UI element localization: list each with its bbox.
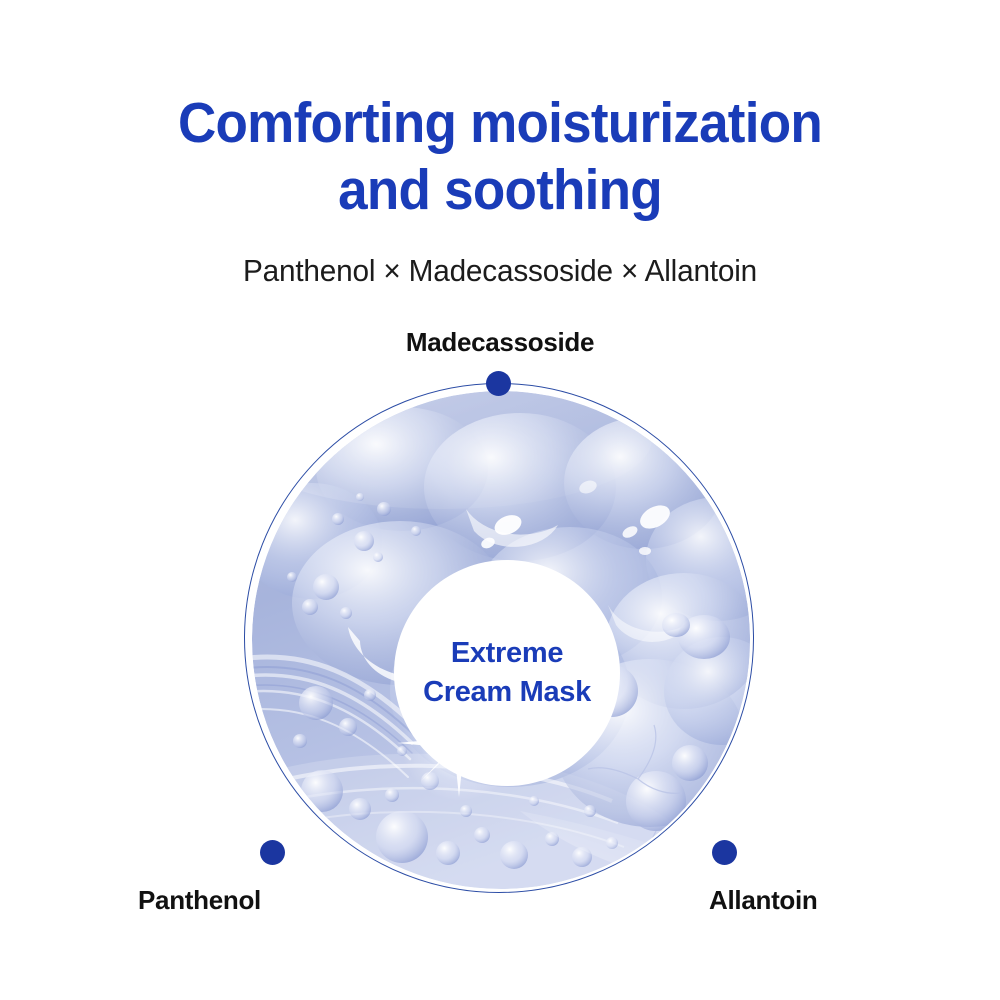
node-dot-panthenol <box>260 840 285 865</box>
node-label-madecassoside: Madecassoside <box>0 327 1000 358</box>
center-label-disc: Extreme Cream Mask <box>394 560 620 786</box>
node-dot-allantoin <box>712 840 737 865</box>
center-label-line-2: Cream Mask <box>423 673 591 712</box>
center-label-line-1: Extreme <box>451 634 563 673</box>
node-label-allantoin: Allantoin <box>709 885 818 916</box>
node-dot-madecassoside <box>486 371 511 396</box>
ingredient-diagram: Extreme Cream Mask Madecassoside Panthen… <box>0 0 1000 1000</box>
promo-page: Comforting moisturization and soothing P… <box>0 0 1000 1000</box>
node-label-panthenol: Panthenol <box>138 885 261 916</box>
